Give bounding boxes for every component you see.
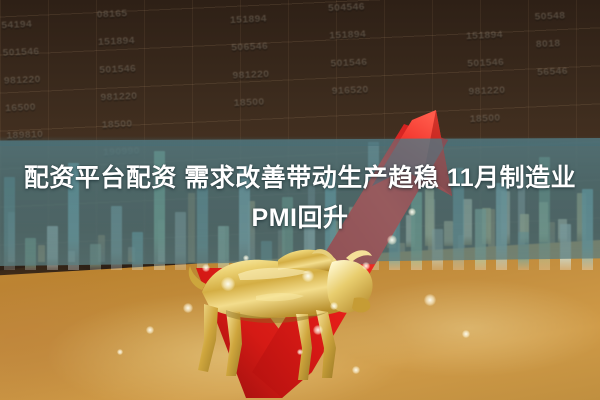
headline-line-1: 配资平台配资 需求改善带动生产趋稳 11月制造业 <box>8 158 592 198</box>
news-thumbnail-image: 54194 501546 981220 16500 18981008165 15… <box>0 0 600 400</box>
headline-line-2: PMI回升 <box>8 198 592 238</box>
teal-band-top-edge <box>0 136 600 146</box>
headline-overlay: 配资平台配资 需求改善带动生产趋稳 11月制造业 PMI回升 <box>0 158 600 238</box>
